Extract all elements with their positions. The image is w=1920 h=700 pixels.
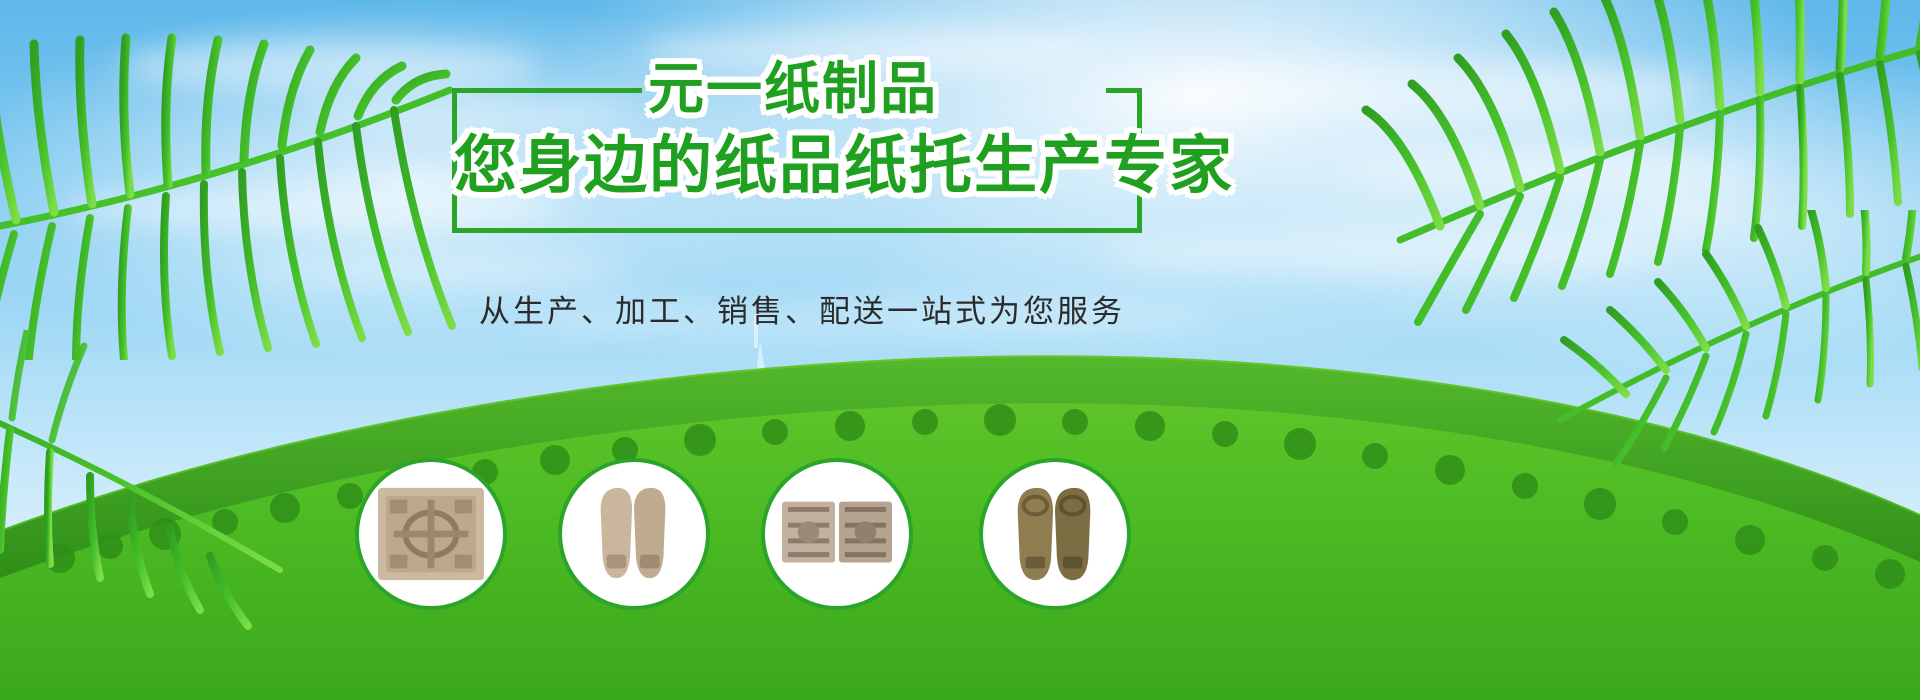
product-circle-1[interactable] [355,458,507,610]
headline-frame: 元一纸制品 您身边的纸品纸托生产专家 [452,88,1142,233]
frame-rule-left [452,88,642,93]
cloud-streak [1180,60,1700,120]
cloud-streak [1340,150,1760,190]
paper-pulp-shoe-inserts-icon [575,480,693,588]
promo-banner: 元一纸制品 您身边的纸品纸托生产专家 从生产、加工、销售、配送一站式为您服务 [0,0,1920,700]
product-circle-3[interactable] [761,458,913,610]
banner-subtitle: 从生产、加工、销售、配送一站式为您服务 [452,286,1152,331]
headline-line-2: 您身边的纸品纸托生产专家 [454,130,1234,202]
product-circle-2[interactable] [558,458,710,610]
paper-pulp-tray-square-icon [372,480,490,588]
headline-line-1: 元一纸制品 [648,58,938,120]
paper-pulp-packaging-pair-icon [778,480,896,588]
product-showcase [355,458,1205,618]
cloud-streak [120,40,540,92]
paper-pulp-shoe-trees-dark-icon [996,480,1114,588]
product-circle-4[interactable] [979,458,1131,610]
cloud-streak [1100,230,1660,276]
